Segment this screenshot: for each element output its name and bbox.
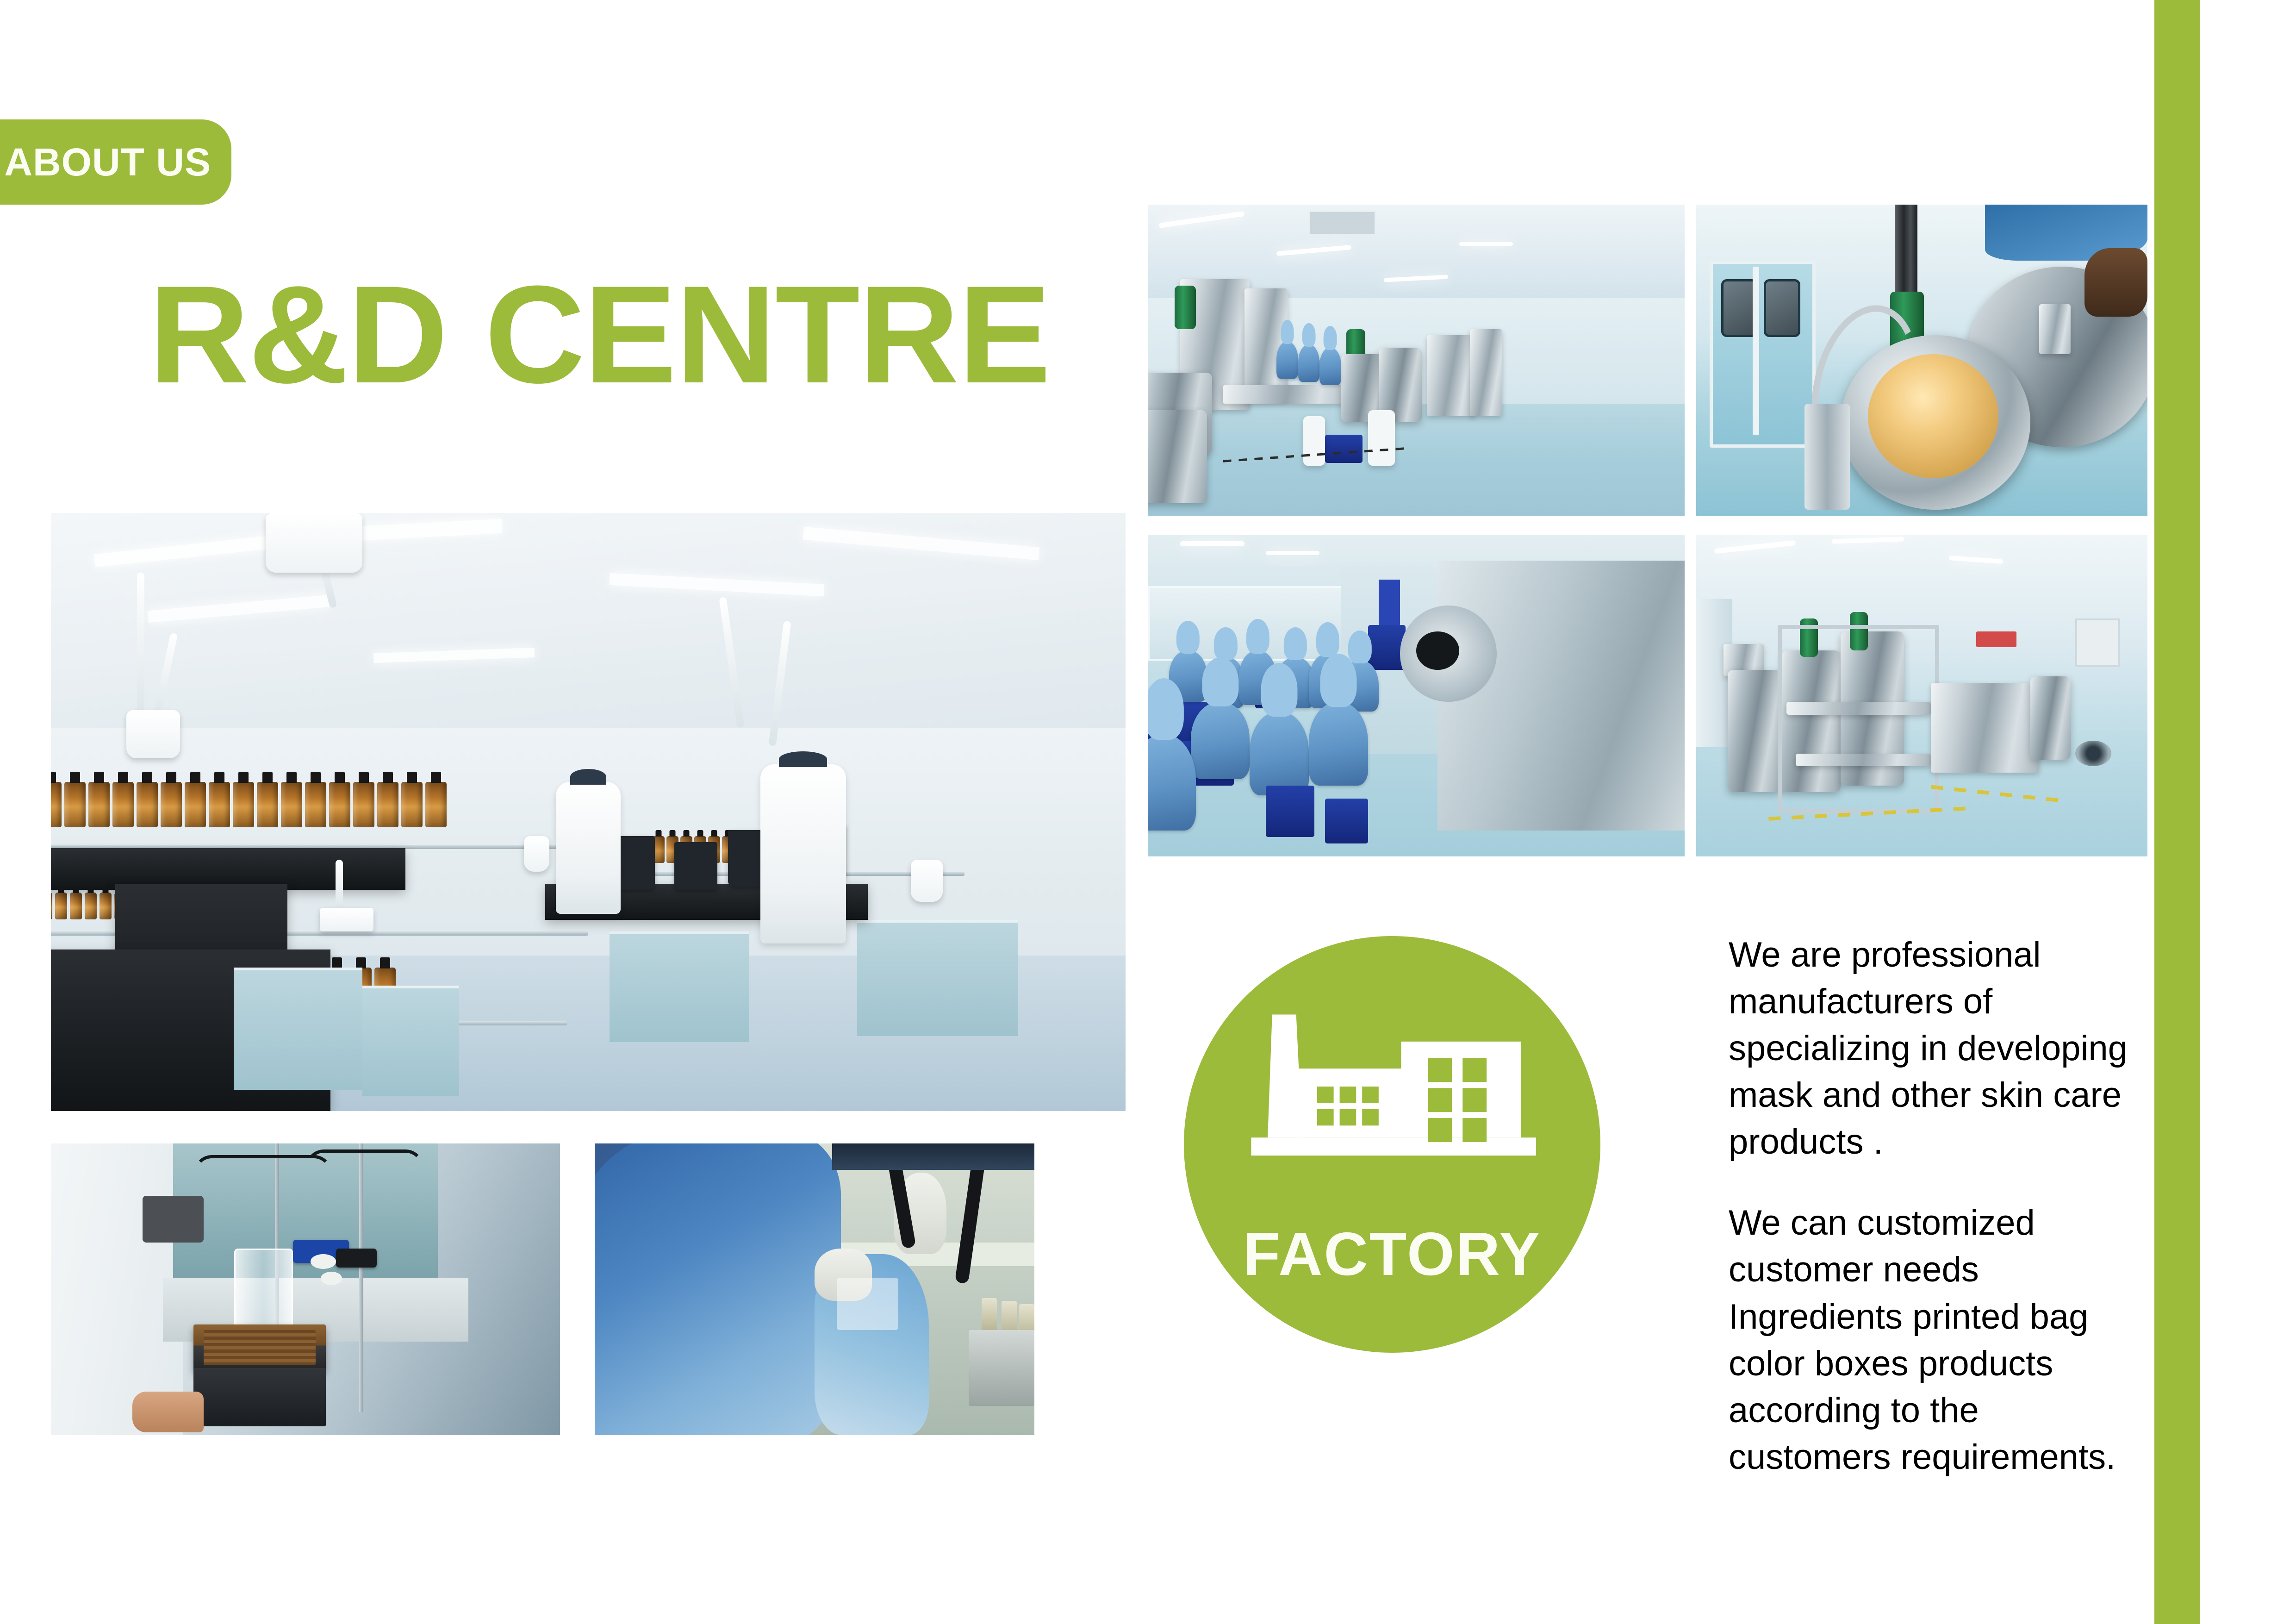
photo-technician-pipetting: [595, 1143, 1034, 1435]
photo-storage-tanks: [1696, 535, 2147, 856]
factory-badge-label: FACTORY: [1184, 1224, 1600, 1285]
photo-mixing-kettle: [1696, 205, 2147, 516]
copy-paragraph-1: We are professional manufacturers of spe…: [1729, 931, 2136, 1165]
photo-beaker-hotplate: [51, 1143, 560, 1435]
copy-paragraph-2: We can customized customer needs Ingredi…: [1729, 1199, 2136, 1480]
about-copy-block: We are professional manufacturers of spe…: [1729, 931, 2136, 1480]
photo-production-line: [1148, 205, 1685, 516]
photo-laboratory-main: [51, 513, 1126, 1111]
factory-icon: [1242, 994, 1542, 1203]
photo-packing-workers: [1148, 535, 1685, 856]
page-title: R&D CENTRE: [149, 265, 1050, 404]
factory-badge: FACTORY: [1184, 936, 1600, 1353]
about-us-tab-label: ABOUT US: [4, 143, 211, 181]
right-accent-bar: [2154, 0, 2200, 1624]
about-us-page: ABOUT US R&D CENTRE: [0, 0, 2296, 1624]
about-us-tab[interactable]: ABOUT US: [0, 119, 231, 205]
